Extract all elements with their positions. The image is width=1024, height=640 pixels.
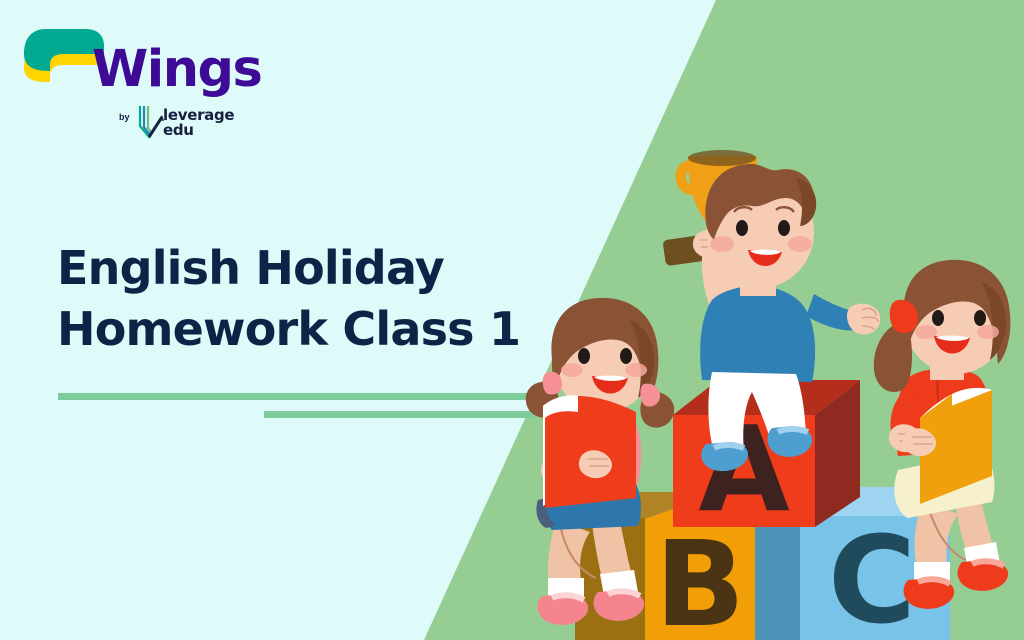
banner-canvas: Wings by leverage edu English Holiday Ho… bbox=[0, 0, 1024, 640]
children-illustration: B C A bbox=[0, 0, 1024, 640]
svg-text:C: C bbox=[828, 512, 916, 640]
